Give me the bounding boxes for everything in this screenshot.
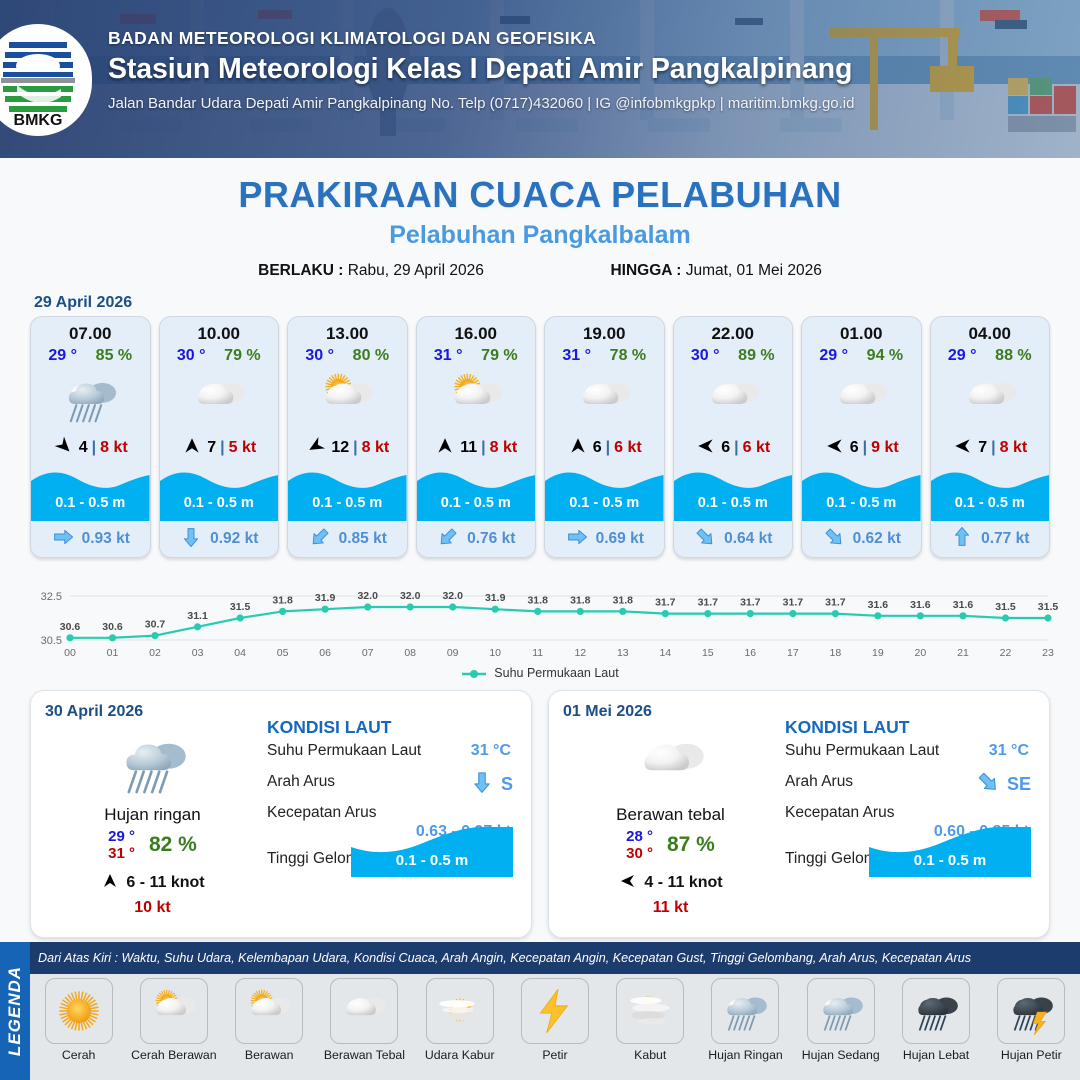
panel-temps: 29 °31 °82 % xyxy=(45,828,260,863)
card-current: 0.69 kt xyxy=(545,521,664,557)
forecast-card: 04.0029 °88 %7|8 kt0.1 - 0.5 m0.77 kt xyxy=(930,316,1051,558)
card-wave-height: 0.1 - 0.5 m xyxy=(545,495,664,511)
panel-wave-height: 0.1 - 0.5 m xyxy=(351,852,513,869)
station-name: Stasiun Meteorologi Kelas I Depati Amir … xyxy=(108,53,1038,86)
card-wind-separator: | xyxy=(353,439,357,457)
legend-item: Petir xyxy=(508,978,601,1062)
card-temp-hum: 29 °88 % xyxy=(931,344,1050,365)
forecast-card: 19.0031 °78 %6|6 kt0.1 - 0.5 m0.69 kt xyxy=(544,316,665,558)
card-wave: 0.1 - 0.5 m xyxy=(931,463,1050,521)
legend-note: Dari Atas Kiri : Waktu, Suhu Udara, Kele… xyxy=(38,951,1076,965)
valid-to-label: HINGGA : xyxy=(610,262,681,279)
card-wind-speed: 8 kt xyxy=(1000,439,1028,457)
svg-text:00: 00 xyxy=(64,647,76,659)
panel-sea-conditions: KONDISI LAUTSuhu Permukaan Laut31 °CArah… xyxy=(785,717,1035,881)
chart-legend-marker xyxy=(461,668,487,678)
forecast-card: 10.0030 °79 %7|5 kt0.1 - 0.5 m0.92 kt xyxy=(159,316,280,558)
card-wind-degree: 7 xyxy=(207,439,216,457)
bmkg-logo-icon: BMKG xyxy=(0,32,81,128)
card-temperature: 29 ° xyxy=(48,347,77,365)
legend-item-label: Udara Kabur xyxy=(413,1048,506,1062)
svg-text:30.5: 30.5 xyxy=(41,635,62,647)
wind-direction-arrow-icon xyxy=(434,435,456,462)
svg-text:31.7: 31.7 xyxy=(783,597,804,609)
card-wind-degree: 6 xyxy=(721,439,730,457)
rain-heavy-icon xyxy=(902,978,970,1044)
bmkg-logo: BMKG xyxy=(0,24,92,136)
legend-item: Cerah Berawan xyxy=(127,978,220,1062)
wind-direction-arrow-icon xyxy=(567,435,589,462)
current-direction-arrow-icon xyxy=(179,525,203,554)
card-wave-height: 0.1 - 0.5 m xyxy=(160,495,279,511)
svg-text:13: 13 xyxy=(617,647,629,659)
wind-direction-arrow-icon xyxy=(305,435,327,462)
svg-text:04: 04 xyxy=(234,647,246,659)
agency-name: BADAN METEOROLOGI KLIMATOLOGI DAN GEOFIS… xyxy=(108,28,1038,49)
sst-label: Suhu Permukaan Laut xyxy=(267,742,421,759)
card-humidity: 80 % xyxy=(353,347,389,365)
cloudy-icon xyxy=(674,365,793,433)
current-direction-arrow-icon xyxy=(436,525,460,554)
card-wind: 6|9 kt xyxy=(802,433,921,463)
current-direction-value: S xyxy=(501,774,513,795)
card-temp-hum: 31 °78 % xyxy=(545,344,664,365)
svg-text:32.0: 32.0 xyxy=(400,590,421,602)
card-wind-speed: 6 kt xyxy=(614,439,642,457)
card-humidity: 79 % xyxy=(481,347,517,365)
legend-side-title: LEGENDA xyxy=(0,942,30,1080)
card-temp-hum: 30 °79 % xyxy=(160,344,279,365)
card-temperature: 31 ° xyxy=(434,347,463,365)
card-current-speed: 0.76 kt xyxy=(467,530,515,548)
current-direction-label: Arah Arus xyxy=(267,773,335,790)
current-direction-arrow-icon xyxy=(469,769,495,800)
panel-gust: 11 kt xyxy=(563,899,778,917)
contact-line: Jalan Bandar Udara Depati Amir Pangkalpi… xyxy=(108,95,1038,112)
card-wind-speed: 8 kt xyxy=(100,439,128,457)
card-temperature: 31 ° xyxy=(562,347,591,365)
svg-text:31.8: 31.8 xyxy=(613,594,634,606)
cloudy-icon xyxy=(545,365,664,433)
svg-text:31.8: 31.8 xyxy=(527,594,548,606)
card-wind-degree: 12 xyxy=(331,439,349,457)
wind-direction-arrow-icon xyxy=(53,435,75,462)
legend-item-label: Hujan Ringan xyxy=(699,1048,792,1062)
svg-text:20: 20 xyxy=(915,647,927,659)
svg-text:31.5: 31.5 xyxy=(230,601,251,613)
card-wave: 0.1 - 0.5 m xyxy=(288,463,407,521)
card-humidity: 89 % xyxy=(738,347,774,365)
legend-item: Berawan Tebal xyxy=(318,978,411,1062)
legend-item: Hujan Sedang xyxy=(794,978,887,1062)
svg-text:15: 15 xyxy=(702,647,714,659)
card-wind-separator: | xyxy=(220,439,224,457)
sun-cloud-icon xyxy=(140,978,208,1044)
card-wind: 7|5 kt xyxy=(160,433,279,463)
panel-left: Hujan ringan29 °31 °82 %6 - 11 knot10 kt xyxy=(45,725,260,917)
card-wind-separator: | xyxy=(92,439,96,457)
card-humidity: 85 % xyxy=(96,347,132,365)
fog-icon xyxy=(616,978,684,1044)
card-wind-separator: | xyxy=(606,439,610,457)
sun-icon xyxy=(45,978,113,1044)
svg-text:07: 07 xyxy=(362,647,374,659)
validity-line: BERLAKU : Rabu, 29 April 2026 HINGGA : J… xyxy=(0,262,1080,280)
daily-summary-panel: 30 April 2026Hujan ringan29 °31 °82 %6 -… xyxy=(30,690,532,938)
hourly-forecast-row: 07.0029 °85 %4|8 kt0.1 - 0.5 m0.93 kt10.… xyxy=(0,316,1080,558)
chart-legend: Suhu Permukaan Laut xyxy=(0,666,1080,680)
svg-text:16: 16 xyxy=(744,647,756,659)
legend-item: Hujan Petir xyxy=(985,978,1078,1062)
sst-value: 31 °C xyxy=(471,742,511,760)
cloudy-icon xyxy=(160,365,279,433)
svg-text:23: 23 xyxy=(1042,647,1054,659)
card-current-speed: 0.62 kt xyxy=(853,530,901,548)
card-temp-hum: 30 °80 % xyxy=(288,344,407,365)
cloud-sun-small-icon xyxy=(235,978,303,1044)
cloudy-icon xyxy=(802,365,921,433)
legend-item: Berawan xyxy=(223,978,316,1062)
svg-text:14: 14 xyxy=(659,647,671,659)
card-time: 01.00 xyxy=(802,317,921,344)
legend-item-label: Berawan xyxy=(223,1048,316,1062)
panel-temps: 28 °30 °87 % xyxy=(563,828,778,863)
panel-condition: Berawan tebal xyxy=(563,805,778,825)
legend-item-label: Petir xyxy=(508,1048,601,1062)
panel-wave-box: 0.1 - 0.5 m xyxy=(869,825,1031,877)
panel-sea-title: KONDISI LAUT xyxy=(267,717,517,738)
current-direction-arrow-icon xyxy=(975,769,1001,800)
wind-direction-arrow-icon xyxy=(952,435,974,462)
card-wave: 0.1 - 0.5 m xyxy=(417,463,536,521)
current-speed-label: Kecepatan Arus xyxy=(785,804,894,821)
forecast-card: 07.0029 °85 %4|8 kt0.1 - 0.5 m0.93 kt xyxy=(30,316,151,558)
card-wind: 11|8 kt xyxy=(417,433,536,463)
card-time: 16.00 xyxy=(417,317,536,344)
card-time: 10.00 xyxy=(160,317,279,344)
card-wave-height: 0.1 - 0.5 m xyxy=(31,495,150,511)
svg-text:32.0: 32.0 xyxy=(357,590,378,602)
valid-to-value: Jumat, 01 Mei 2026 xyxy=(686,262,822,279)
card-temp-hum: 29 °85 % xyxy=(31,344,150,365)
forecast-card: 22.0030 °89 %6|6 kt0.1 - 0.5 m0.64 kt xyxy=(673,316,794,558)
card-wind-separator: | xyxy=(863,439,867,457)
daily-summary-row: 30 April 2026Hujan ringan29 °31 °82 %6 -… xyxy=(0,680,1080,938)
current-direction-arrow-icon xyxy=(51,525,75,554)
card-wind: 4|8 kt xyxy=(31,433,150,463)
svg-text:32.0: 32.0 xyxy=(442,590,463,602)
svg-text:31.9: 31.9 xyxy=(485,592,506,604)
wind-direction-arrow-icon xyxy=(100,871,120,896)
sst-chart: 32.530.530.60030.60130.70231.10331.50431… xyxy=(22,570,1058,662)
card-wind-separator: | xyxy=(481,439,485,457)
legend-item-label: Kabut xyxy=(604,1048,697,1062)
card-wind: 6|6 kt xyxy=(674,433,793,463)
svg-text:21: 21 xyxy=(957,647,969,659)
forecast-card: 01.0029 °94 %6|9 kt0.1 - 0.5 m0.62 kt xyxy=(801,316,922,558)
sst-value: 31 °C xyxy=(989,742,1029,760)
panel-wind-range: 6 - 11 knot xyxy=(126,874,204,892)
card-wind-degree: 6 xyxy=(593,439,602,457)
page-title: PRAKIRAAN CUACA PELABUHAN xyxy=(0,174,1080,216)
svg-text:10: 10 xyxy=(489,647,501,659)
header-text-block: BADAN METEOROLOGI KLIMATOLOGI DAN GEOFIS… xyxy=(108,28,1038,112)
card-current-speed: 0.93 kt xyxy=(82,530,130,548)
cloudy-icon xyxy=(931,365,1050,433)
legend-item: Cerah xyxy=(32,978,125,1062)
card-current: 0.64 kt xyxy=(674,521,793,557)
card-temperature: 30 ° xyxy=(691,347,720,365)
legend-item: Udara Kabur xyxy=(413,978,506,1062)
panel-wave-height: 0.1 - 0.5 m xyxy=(869,852,1031,869)
current-direction-label: Arah Arus xyxy=(785,773,853,790)
svg-text:02: 02 xyxy=(149,647,161,659)
card-wave: 0.1 - 0.5 m xyxy=(802,463,921,521)
legend-item: Hujan Ringan xyxy=(699,978,792,1062)
legend-item: Hujan Lebat xyxy=(889,978,982,1062)
svg-text:19: 19 xyxy=(872,647,884,659)
svg-text:31.6: 31.6 xyxy=(953,599,974,611)
panel-wind-range: 4 - 11 knot xyxy=(644,874,722,892)
card-time: 19.00 xyxy=(545,317,664,344)
svg-text:12: 12 xyxy=(574,647,586,659)
svg-text:06: 06 xyxy=(319,647,331,659)
card-current: 0.77 kt xyxy=(931,521,1050,557)
panel-wind: 4 - 11 knot xyxy=(563,871,778,896)
card-wave: 0.1 - 0.5 m xyxy=(31,463,150,521)
card-time: 04.00 xyxy=(931,317,1050,344)
valid-from-value: Rabu, 29 April 2026 xyxy=(348,262,484,279)
lightning-icon xyxy=(521,978,589,1044)
rain-thunder-icon xyxy=(997,978,1065,1044)
card-wind-degree: 11 xyxy=(460,439,477,457)
chart-legend-label: Suhu Permukaan Laut xyxy=(494,666,618,680)
card-temperature: 29 ° xyxy=(819,347,848,365)
panel-gust: 10 kt xyxy=(45,899,260,917)
card-current-speed: 0.92 kt xyxy=(210,530,258,548)
legend-item-label: Hujan Petir xyxy=(985,1048,1078,1062)
svg-text:31.9: 31.9 xyxy=(315,592,336,604)
clouds-icon xyxy=(330,978,398,1044)
card-temp-hum: 29 °94 % xyxy=(802,344,921,365)
card-wind-speed: 8 kt xyxy=(362,439,390,457)
card-wind: 6|6 kt xyxy=(545,433,664,463)
card-wave: 0.1 - 0.5 m xyxy=(160,463,279,521)
svg-text:31.6: 31.6 xyxy=(910,599,931,611)
sst-label: Suhu Permukaan Laut xyxy=(785,742,939,759)
card-current: 0.62 kt xyxy=(802,521,921,557)
card-current: 0.85 kt xyxy=(288,521,407,557)
card-humidity: 88 % xyxy=(995,347,1031,365)
haze-icon xyxy=(426,978,494,1044)
card-wave-height: 0.1 - 0.5 m xyxy=(802,495,921,511)
forecast-card: 16.0031 °79 %11|8 kt0.1 - 0.5 m0.76 kt xyxy=(416,316,537,558)
panel-temp-max: 31 ° xyxy=(108,845,135,862)
wind-direction-arrow-icon xyxy=(824,435,846,462)
card-wind-degree: 7 xyxy=(978,439,987,457)
sea-row-current-dir: Arah ArusSE xyxy=(785,773,1035,804)
partly-sunny-icon xyxy=(288,365,407,433)
card-time: 22.00 xyxy=(674,317,793,344)
svg-text:03: 03 xyxy=(192,647,204,659)
svg-text:05: 05 xyxy=(277,647,289,659)
panel-temp-min: 28 ° xyxy=(626,828,653,845)
svg-text:31.8: 31.8 xyxy=(272,594,293,606)
panel-temp-max: 30 ° xyxy=(626,845,653,862)
svg-text:31.7: 31.7 xyxy=(655,597,676,609)
card-current: 0.76 kt xyxy=(417,521,536,557)
panel-temp-min: 29 ° xyxy=(108,828,135,845)
svg-text:17: 17 xyxy=(787,647,799,659)
card-wave-height: 0.1 - 0.5 m xyxy=(417,495,536,511)
panel-condition: Hujan ringan xyxy=(45,805,260,825)
forecast-card: 13.0030 °80 %12|8 kt0.1 - 0.5 m0.85 kt xyxy=(287,316,408,558)
svg-text:30.6: 30.6 xyxy=(102,621,123,633)
panel-sea-title: KONDISI LAUT xyxy=(785,717,1035,738)
cloudy-icon xyxy=(563,725,778,803)
card-time: 13.00 xyxy=(288,317,407,344)
svg-text:08: 08 xyxy=(404,647,416,659)
card-wind-speed: 9 kt xyxy=(871,439,899,457)
card-current-speed: 0.85 kt xyxy=(339,530,387,548)
card-wind-separator: | xyxy=(734,439,738,457)
page-subtitle: Pelabuhan Pangkalbalam xyxy=(0,221,1080,250)
card-current: 0.92 kt xyxy=(160,521,279,557)
legend-item-label: Cerah xyxy=(32,1048,125,1062)
partly-sunny-icon xyxy=(417,365,536,433)
current-direction-arrow-icon xyxy=(565,525,589,554)
card-wind-separator: | xyxy=(991,439,995,457)
svg-text:31.5: 31.5 xyxy=(995,601,1016,613)
card-wind-speed: 5 kt xyxy=(229,439,257,457)
svg-text:31.7: 31.7 xyxy=(698,597,719,609)
panel-humidity: 82 % xyxy=(149,833,197,857)
card-wind-degree: 6 xyxy=(850,439,859,457)
card-wave: 0.1 - 0.5 m xyxy=(545,463,664,521)
legend-item-label: Hujan Sedang xyxy=(794,1048,887,1062)
svg-text:31.5: 31.5 xyxy=(1038,601,1058,613)
svg-text:31.7: 31.7 xyxy=(740,597,761,609)
card-wave-height: 0.1 - 0.5 m xyxy=(931,495,1050,511)
card-temperature: 29 ° xyxy=(948,347,977,365)
current-direction-arrow-icon xyxy=(950,525,974,554)
card-time: 07.00 xyxy=(31,317,150,344)
current-direction-arrow-icon xyxy=(308,525,332,554)
title-block: PRAKIRAAN CUACA PELABUHAN Pelabuhan Pang… xyxy=(0,174,1080,280)
svg-text:18: 18 xyxy=(830,647,842,659)
daily-summary-panel: 01 Mei 2026Berawan tebal28 °30 °87 %4 - … xyxy=(548,690,1050,938)
legend-item-label: Berawan Tebal xyxy=(318,1048,411,1062)
svg-text:31.8: 31.8 xyxy=(570,594,591,606)
svg-text:31.1: 31.1 xyxy=(187,610,208,622)
current-speed-label: Kecepatan Arus xyxy=(267,804,376,821)
svg-text:22: 22 xyxy=(1000,647,1012,659)
card-wave-height: 0.1 - 0.5 m xyxy=(288,495,407,511)
rain-light-icon xyxy=(711,978,779,1044)
svg-text:31.6: 31.6 xyxy=(868,599,889,611)
card-current-speed: 0.64 kt xyxy=(724,530,772,548)
legend-strip: LEGENDA Dari Atas Kiri : Waktu, Suhu Uda… xyxy=(0,942,1080,1080)
card-wave-height: 0.1 - 0.5 m xyxy=(674,495,793,511)
card-current-speed: 0.69 kt xyxy=(596,530,644,548)
card-wind-degree: 4 xyxy=(79,439,88,457)
current-direction-arrow-icon xyxy=(693,525,717,554)
svg-text:01: 01 xyxy=(107,647,119,659)
svg-text:31.7: 31.7 xyxy=(825,597,846,609)
panel-wind: 6 - 11 knot xyxy=(45,871,260,896)
wind-direction-arrow-icon xyxy=(695,435,717,462)
forecast-date-label: 29 April 2026 xyxy=(34,294,1080,312)
wind-direction-arrow-icon xyxy=(618,871,638,896)
legend-item-label: Hujan Lebat xyxy=(889,1048,982,1062)
svg-text:30.7: 30.7 xyxy=(145,619,166,631)
page-header: BMKG BADAN METEOROLOGI KLIMATOLOGI DAN G… xyxy=(0,0,1080,158)
panel-sea-conditions: KONDISI LAUTSuhu Permukaan Laut31 °CArah… xyxy=(267,717,517,881)
current-direction-arrow-icon xyxy=(822,525,846,554)
legend-item-label: Cerah Berawan xyxy=(127,1048,220,1062)
card-humidity: 94 % xyxy=(867,347,903,365)
legend-side-title-text: LEGENDA xyxy=(5,966,25,1056)
sea-row-current-dir: Arah ArusS xyxy=(267,773,517,804)
svg-text:BMKG: BMKG xyxy=(14,112,63,128)
card-wave: 0.1 - 0.5 m xyxy=(674,463,793,521)
rain-light-icon xyxy=(31,365,150,433)
card-wind-speed: 8 kt xyxy=(490,439,518,457)
legend-item: Kabut xyxy=(604,978,697,1062)
card-current: 0.93 kt xyxy=(31,521,150,557)
panel-humidity: 87 % xyxy=(667,833,715,857)
valid-from-label: BERLAKU : xyxy=(258,262,343,279)
svg-text:30.6: 30.6 xyxy=(60,621,81,633)
card-wind-speed: 6 kt xyxy=(743,439,771,457)
card-wind: 12|8 kt xyxy=(288,433,407,463)
card-temp-hum: 30 °89 % xyxy=(674,344,793,365)
wind-direction-arrow-icon xyxy=(181,435,203,462)
card-temperature: 30 ° xyxy=(177,347,206,365)
panel-left: Berawan tebal28 °30 °87 %4 - 11 knot11 k… xyxy=(563,725,778,917)
card-temperature: 30 ° xyxy=(305,347,334,365)
card-humidity: 79 % xyxy=(224,347,260,365)
svg-text:09: 09 xyxy=(447,647,459,659)
svg-text:11: 11 xyxy=(532,647,543,659)
card-current-speed: 0.77 kt xyxy=(981,530,1029,548)
legend-items: CerahCerah BerawanBerawanBerawan TebalUd… xyxy=(30,974,1080,1080)
panel-wave-box: 0.1 - 0.5 m xyxy=(351,825,513,877)
card-humidity: 78 % xyxy=(610,347,646,365)
card-wind: 7|8 kt xyxy=(931,433,1050,463)
svg-text:32.5: 32.5 xyxy=(41,591,62,603)
current-direction-value: SE xyxy=(1007,774,1031,795)
rain-moderate-icon xyxy=(807,978,875,1044)
rain-light-icon xyxy=(45,725,260,803)
card-temp-hum: 31 °79 % xyxy=(417,344,536,365)
